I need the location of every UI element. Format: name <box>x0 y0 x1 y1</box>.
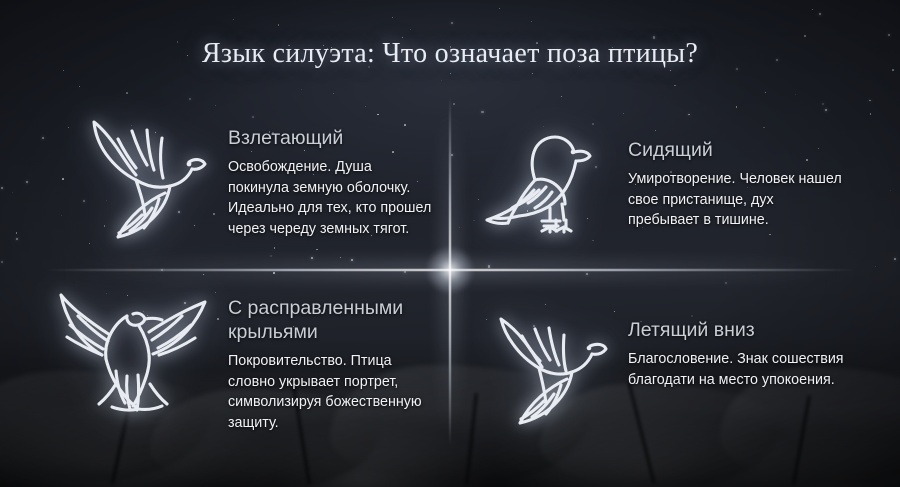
dove-descending-icon <box>486 316 612 432</box>
quadrant-text-flying-up: Взлетающий Освобождение. Душа покинула з… <box>228 126 433 239</box>
dove-perched-icon <box>476 130 600 242</box>
quadrant-heading: Сидящий <box>628 138 844 162</box>
dove-ascending-icon <box>62 112 210 252</box>
quadrant-text-perched: Сидящий Умиротворение. Человек нашел сво… <box>628 138 844 231</box>
quadrant-text-flying-down: Летящий вниз Благословение. Знак сошеств… <box>628 318 844 390</box>
infographic-canvas: Язык силуэта: Что означает поза птицы? В… <box>0 0 900 487</box>
quadrant-body: Покровительство. Птица словно укрывает п… <box>228 351 442 433</box>
quadrant-heading: Взлетающий <box>228 126 433 150</box>
quadrant-heading: Летящий вниз <box>628 318 844 342</box>
quadrant-text-wings-spread: С расправленными крыльями Покровительств… <box>228 296 442 433</box>
dove-wings-spread-icon <box>54 292 212 424</box>
quadrant-heading: С расправленными крыльями <box>228 296 442 344</box>
quadrant-body: Умиротворение. Человек нашел свое приста… <box>628 169 844 231</box>
page-title: Язык силуэта: Что означает поза птицы? <box>0 38 900 70</box>
quadrant-body: Благословение. Знак сошествия благодати … <box>628 349 844 390</box>
quadrant-body: Освобождение. Душа покинула земную оболо… <box>228 157 433 239</box>
